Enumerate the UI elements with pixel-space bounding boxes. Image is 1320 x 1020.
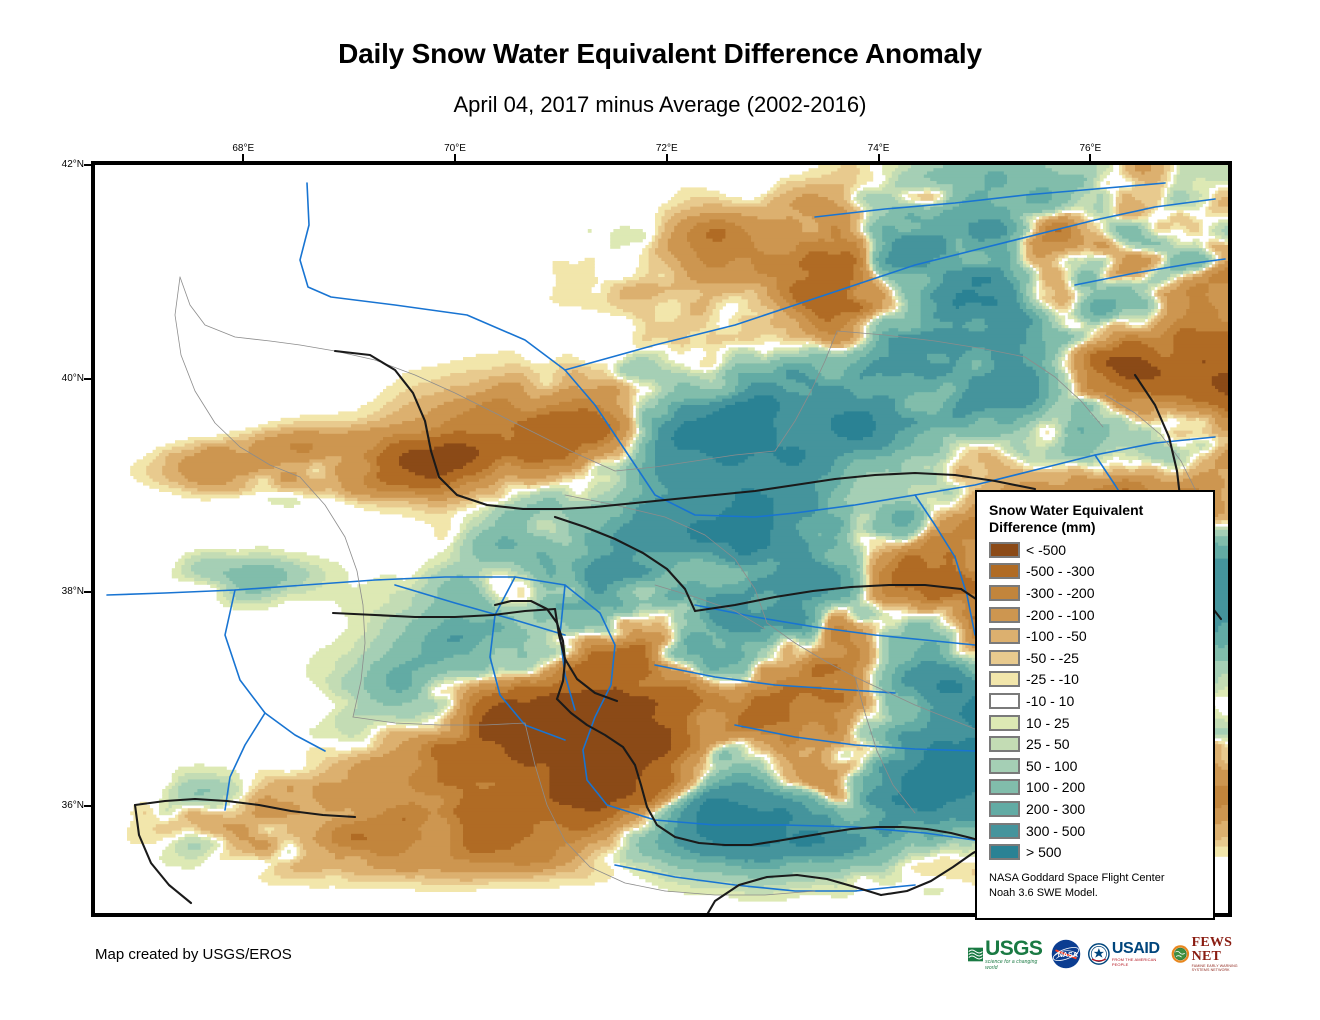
legend-label: < -500 xyxy=(1026,542,1066,558)
legend-row: 25 - 50 xyxy=(989,733,1203,755)
legend-swatch xyxy=(989,758,1020,774)
legend-label: 300 - 500 xyxy=(1026,823,1085,839)
lat-tick-label: 36°N xyxy=(38,800,84,811)
legend-row: 50 - 100 xyxy=(989,755,1203,777)
nasa-logo: NASA xyxy=(1051,938,1081,970)
legend-row: 200 - 300 xyxy=(989,798,1203,820)
lon-tick-label: 76°E xyxy=(1060,143,1120,154)
legend-source-line2: Noah 3.6 SWE Model. xyxy=(989,886,1203,901)
legend-label: -10 - 10 xyxy=(1026,693,1074,709)
lon-tick-label: 70°E xyxy=(425,143,485,154)
legend-title-line2: Difference (mm) xyxy=(989,519,1203,536)
legend-source-line1: NASA Goddard Space Flight Center xyxy=(989,871,1203,886)
legend-swatch xyxy=(989,563,1020,579)
legend-swatch xyxy=(989,671,1020,687)
legend-row: -300 - -200 xyxy=(989,582,1203,604)
legend-row: 300 - 500 xyxy=(989,820,1203,842)
legend-label: -50 - -25 xyxy=(1026,650,1079,666)
legend-swatch xyxy=(989,650,1020,666)
legend-swatch xyxy=(989,628,1020,644)
legend-row: -500 - -300 xyxy=(989,561,1203,583)
legend-swatch xyxy=(989,844,1020,860)
legend-row: -50 - -25 xyxy=(989,647,1203,669)
legend-row: 10 - 25 xyxy=(989,712,1203,734)
lon-tick-label: 72°E xyxy=(637,143,697,154)
legend-label: -500 - -300 xyxy=(1026,563,1094,579)
map-credit: Map created by USGS/EROS xyxy=(95,946,292,963)
legend-row: > 500 xyxy=(989,841,1203,863)
usaid-logo-tagline: FROM THE AMERICAN PEOPLE xyxy=(1112,957,1164,967)
legend-row: < -500 xyxy=(989,539,1203,561)
legend-row: -100 - -50 xyxy=(989,625,1203,647)
legend-swatch xyxy=(989,823,1020,839)
legend-swatch xyxy=(989,585,1020,601)
legend-panel: Snow Water Equivalent Difference (mm) < … xyxy=(975,490,1215,920)
usaid-logo: USAID FROM THE AMERICAN PEOPLE xyxy=(1088,938,1164,970)
legend-row: -200 - -100 xyxy=(989,604,1203,626)
usaid-seal-icon xyxy=(1088,941,1110,967)
legend-label: -25 - -10 xyxy=(1026,671,1079,687)
legend-label: -300 - -200 xyxy=(1026,585,1094,601)
legend-swatch xyxy=(989,715,1020,731)
legend-label: 25 - 50 xyxy=(1026,736,1070,752)
usgs-wave-icon xyxy=(968,946,983,963)
legend-label: -100 - -50 xyxy=(1026,628,1087,644)
usgs-logo-tagline: science for a changing world xyxy=(985,959,1044,971)
legend-row: -10 - 10 xyxy=(989,690,1203,712)
legend-row: 100 - 200 xyxy=(989,777,1203,799)
legend-swatch xyxy=(989,693,1020,709)
page-subtitle: April 04, 2017 minus Average (2002-2016) xyxy=(0,92,1320,118)
legend-title-line1: Snow Water Equivalent xyxy=(989,502,1203,519)
lon-tick-label: 68°E xyxy=(213,143,273,154)
legend-label: 200 - 300 xyxy=(1026,801,1085,817)
nasa-meatball-icon: NASA xyxy=(1051,939,1081,969)
legend-label: 50 - 100 xyxy=(1026,758,1077,774)
legend-row: -25 - -10 xyxy=(989,669,1203,691)
legend-swatch xyxy=(989,779,1020,795)
fews-globe-icon xyxy=(1171,941,1190,967)
legend-label: > 500 xyxy=(1026,844,1061,860)
usaid-logo-text: USAID xyxy=(1112,941,1164,957)
legend-swatch xyxy=(989,736,1020,752)
fews-logo: FEWS NET FAMINE EARLY WARNING SYSTEMS NE… xyxy=(1171,938,1253,970)
lat-tick-label: 40°N xyxy=(38,373,84,384)
fews-logo-tagline: FAMINE EARLY WARNING SYSTEMS NETWORK xyxy=(1192,964,1253,972)
legend-title: Snow Water Equivalent Difference (mm) xyxy=(989,502,1203,535)
legend-swatch xyxy=(989,607,1020,623)
fews-logo-text: FEWS NET xyxy=(1192,936,1253,964)
lon-tick-label: 74°E xyxy=(849,143,909,154)
usgs-logo: USGS science for a changing world xyxy=(968,938,1044,970)
page-title: Daily Snow Water Equivalent Difference A… xyxy=(0,38,1320,70)
usgs-logo-text: USGS xyxy=(985,938,1044,959)
legend-label: 10 - 25 xyxy=(1026,715,1070,731)
legend-class-list: < -500-500 - -300-300 - -200-200 - -100-… xyxy=(989,539,1203,863)
lat-tick-label: 42°N xyxy=(38,159,84,170)
agency-logos: USGS science for a changing world NASA xyxy=(968,934,1253,974)
legend-swatch xyxy=(989,542,1020,558)
legend-source: NASA Goddard Space Flight Center Noah 3.… xyxy=(989,871,1203,901)
legend-swatch xyxy=(989,801,1020,817)
lat-tick-label: 38°N xyxy=(38,586,84,597)
legend-label: 100 - 200 xyxy=(1026,779,1085,795)
legend-label: -200 - -100 xyxy=(1026,607,1094,623)
